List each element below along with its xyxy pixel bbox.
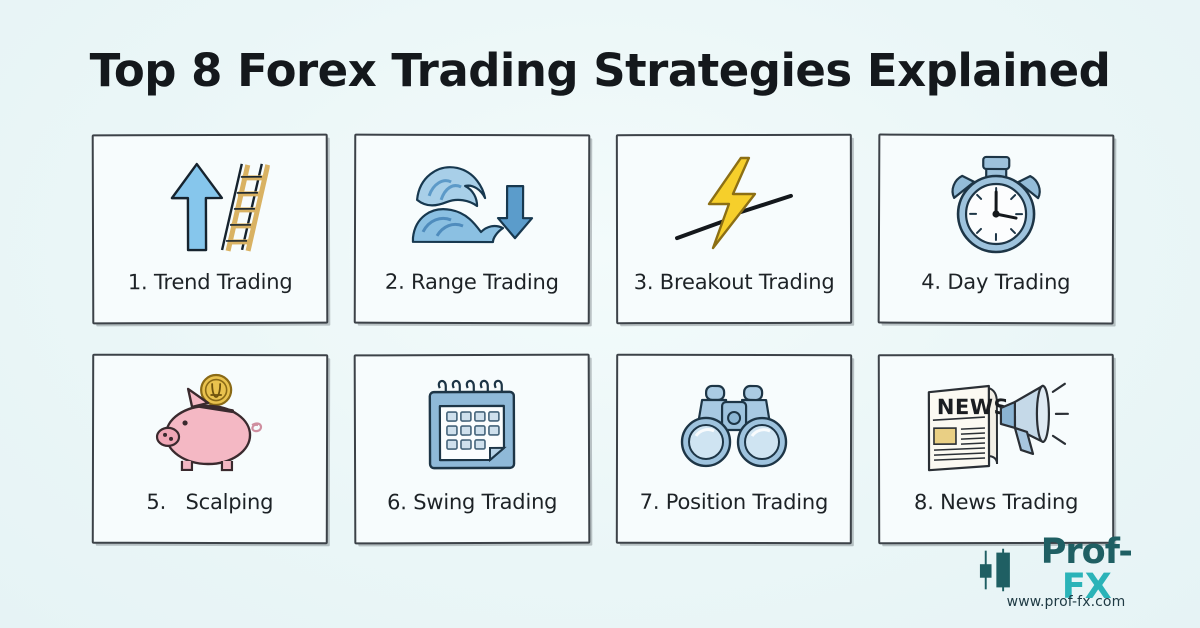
piggy-bank-coin-icon <box>94 372 326 477</box>
strategy-card-position-trading[interactable]: 7. Position Trading <box>616 354 852 544</box>
strategy-card-day-trading[interactable]: 4. Day Trading <box>878 134 1115 325</box>
strategy-card-label: 8. News Trading <box>880 490 1112 515</box>
strategy-card-scalping[interactable]: 5. Scalping <box>92 354 328 545</box>
strategy-card-label: 3. Breakout Trading <box>618 270 850 294</box>
binoculars-icon <box>618 372 850 476</box>
strategy-card-swing-trading[interactable]: 6. Swing Trading <box>354 354 591 545</box>
strategy-card-label: 6. Swing Trading <box>356 490 588 515</box>
strategy-card-label: 2. Range Trading <box>356 270 588 295</box>
up-arrow-ladder-icon <box>94 152 326 257</box>
infographic-canvas: Top 8 Forex Trading Strategies Explained <box>0 0 1200 628</box>
candlestick-chart-icon <box>978 548 1017 592</box>
brand-logo[interactable]: Prof-FX www.prof-fx.com <box>978 547 1154 610</box>
wave-down-arrow-icon <box>356 152 588 257</box>
strategy-card-grid: 1. Trend Trading 2. Range Trading <box>92 134 1114 544</box>
lightning-bolt-icon <box>618 152 850 256</box>
stopwatch-icon <box>880 152 1112 257</box>
newspaper-megaphone-icon: NEWS <box>880 372 1112 477</box>
svg-text:NEWS: NEWS <box>937 395 1009 419</box>
logo-word-rof: rof- <box>1065 532 1131 572</box>
strategy-card-label: 7. Position Trading <box>618 490 850 514</box>
strategy-card-news-trading[interactable]: NEWS <box>878 354 1114 545</box>
strategy-card-label: 1. Trend Trading <box>94 270 326 295</box>
strategy-card-range-trading[interactable]: 2. Range Trading <box>354 134 591 325</box>
strategy-card-label: 5. Scalping <box>94 490 326 515</box>
calendar-icon <box>356 372 588 477</box>
logo-row: Prof-FX <box>978 547 1154 593</box>
page-title: Top 8 Forex Trading Strategies Explained <box>0 44 1200 97</box>
strategy-card-label: 4. Day Trading <box>880 270 1112 295</box>
logo-word-p: P <box>1041 532 1066 572</box>
strategy-card-breakout-trading[interactable]: 3. Breakout Trading <box>616 134 852 324</box>
strategy-card-trend-trading[interactable]: 1. Trend Trading <box>92 134 329 325</box>
